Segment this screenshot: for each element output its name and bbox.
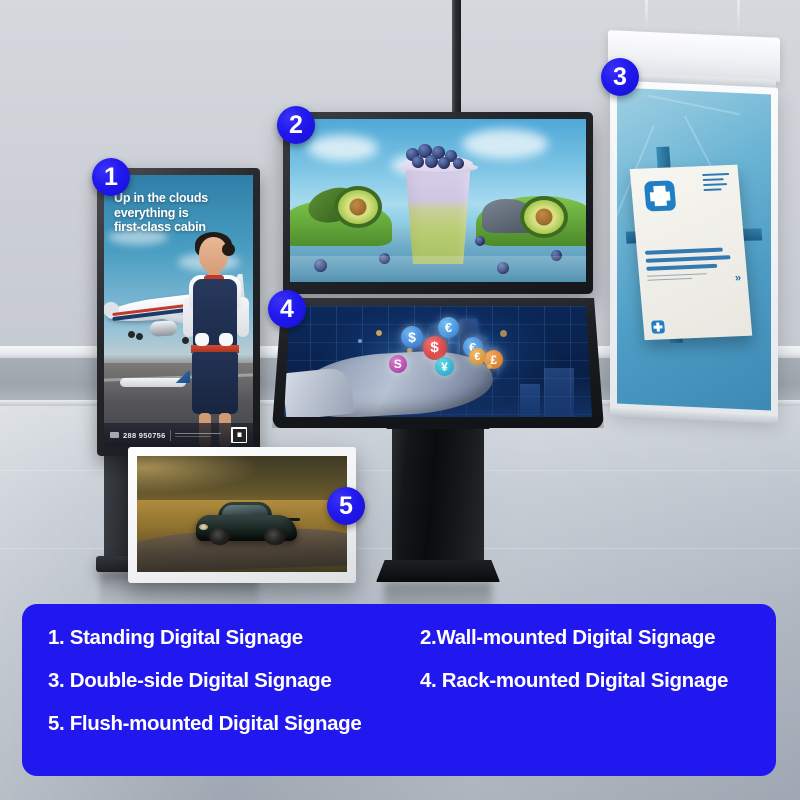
- legend-item-3: 3. Double-side Digital Signage: [48, 669, 420, 693]
- badge-3: 3: [601, 58, 639, 96]
- d3-screen[interactable]: »: [617, 88, 771, 411]
- badge-4: 4: [268, 290, 306, 328]
- currency-coin-dollar: $: [401, 326, 423, 348]
- display-4-rack-mounted[interactable]: $ € $ € ¥ £ S €: [272, 298, 604, 428]
- d4-screen[interactable]: $ € $ € ¥ £ S €: [284, 306, 592, 417]
- currency-coin-euro: €: [438, 317, 459, 338]
- d3-poster-tagline: [702, 173, 734, 194]
- d1-screen[interactable]: Up in the cloudseverything isfirst-class…: [104, 175, 253, 447]
- legend-item-2: 2.Wall-mounted Digital Signage: [420, 626, 750, 650]
- legend-item-4: 4. Rack-mounted Digital Signage: [420, 669, 750, 693]
- d1-footer-fineprint: [175, 431, 227, 439]
- chevron-right-icon: »: [734, 272, 740, 284]
- shirt-cuff: [284, 367, 354, 417]
- kiosk-pedestal: [392, 424, 484, 572]
- display-1-standing[interactable]: Up in the cloudseverything isfirst-class…: [97, 168, 260, 456]
- legend-panel: 1. Standing Digital Signage 2.Wall-mount…: [22, 604, 776, 776]
- sports-car: [196, 504, 297, 546]
- d1-footer-number: 288 950756: [123, 431, 166, 440]
- currency-coin-yen: ¥: [435, 357, 454, 376]
- currency-coin-euro: €: [469, 348, 486, 365]
- d3-poster: »: [630, 164, 752, 339]
- avocado-half: [334, 186, 382, 228]
- ceiling-mount-pole: [452, 0, 461, 120]
- badge-2: 2: [277, 106, 315, 144]
- hospital-cross-icon: [644, 180, 677, 211]
- currency-coin-s: S: [389, 355, 407, 373]
- d1-footer-logo: [110, 432, 119, 438]
- avocado-half: [520, 196, 568, 238]
- flight-attendant: [177, 237, 253, 447]
- badge-5: 5: [327, 487, 365, 525]
- display-3-double-side[interactable]: »: [608, 34, 780, 416]
- legend-item-5: 5. Flush-mounted Digital Signage: [48, 712, 420, 736]
- d1-footer-bar: 288 950756: [104, 423, 253, 447]
- d3-frame: »: [610, 80, 778, 418]
- display-5-flush-mounted[interactable]: [128, 447, 356, 583]
- kiosk-base: [376, 560, 500, 582]
- qr-code-icon: [231, 427, 247, 443]
- d5-screen[interactable]: [137, 456, 347, 572]
- d2-screen[interactable]: [290, 119, 586, 282]
- legend-list: 1. Standing Digital Signage 2.Wall-mount…: [48, 626, 750, 736]
- legend-item-1: 1. Standing Digital Signage: [48, 626, 420, 650]
- d3-poster-text: [645, 247, 738, 284]
- scene: » 3: [0, 0, 800, 800]
- hospital-seal-icon: [651, 320, 665, 334]
- smoothie-cup: [396, 144, 480, 264]
- d2-water-reflection: [290, 256, 586, 282]
- badge-1: 1: [92, 158, 130, 196]
- d1-headline: Up in the cloudseverything isfirst-class…: [114, 191, 234, 235]
- d5-sunlight: [137, 456, 263, 495]
- display-2-wall-mounted[interactable]: [283, 112, 593, 294]
